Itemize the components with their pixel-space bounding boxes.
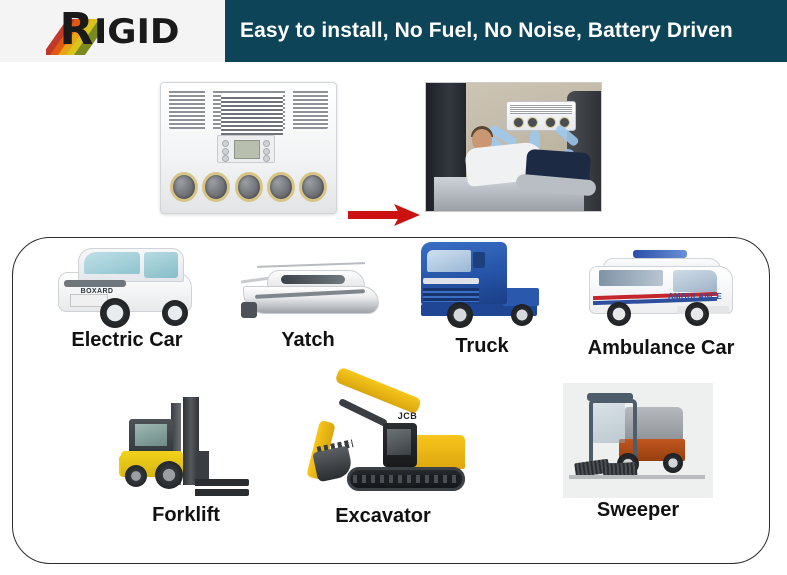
ac-center-grille [221,95,283,135]
header-banner: Easy to install, No Fuel, No Noise, Batt… [225,0,787,62]
truck-image [407,236,557,336]
ambulance-text: AMBULANCE [667,292,723,302]
application-label: Ambulance Car [561,336,761,360]
ambulance-image: AMBULANCE [581,244,741,336]
ac-vent [299,172,327,202]
application-label: Sweeper [543,498,733,522]
hero-section [0,62,787,227]
ac-vent-row [170,169,327,205]
logo-letter-r: R [60,8,92,52]
application-label: Forklift [111,503,261,527]
application-label: Truck [389,334,575,358]
application-item-truck: Truck [389,236,575,358]
sweeper-image [563,383,713,498]
cabin-ac-unit [506,101,576,131]
ac-vent [170,172,198,202]
applications-row-1: BOXARD Electric Car Yatch [13,242,769,392]
ac-louver-grille [169,89,328,129]
yacht-image [233,242,383,328]
application-label: Excavator [285,504,481,528]
red-arrow-icon [348,204,420,226]
ac-display-screen [234,140,260,159]
page-title: Easy to install, No Fuel, No Noise, Batt… [225,19,733,43]
page-header: R IGID Easy to install, No Fuel, No Nois… [0,0,787,62]
application-item-electric-car: BOXARD Electric Car [27,242,227,352]
ac-vent [235,172,263,202]
application-item-excavator: JCB Excavator [285,387,481,528]
product-ac-unit-image [160,82,337,214]
applications-panel: BOXARD Electric Car Yatch [12,237,770,564]
excavator-image: JCB [291,387,476,502]
application-item-ambulance-car: AMBULANCE Ambulance Car [561,244,761,360]
application-label: Electric Car [27,328,227,352]
excavator-brand-text: JCB [391,411,425,423]
installed-in-cabin-image [425,82,602,212]
forklift-image [111,393,261,503]
ac-vent [267,172,295,202]
applications-row-2: Forklift JCB Excavator [13,393,769,561]
ac-control-panel [217,135,275,163]
application-item-forklift: Forklift [111,393,261,527]
application-item-yatch: Yatch [213,242,403,352]
brand-logo: R IGID [0,0,225,62]
application-label: Yatch [213,328,403,352]
electric-car-image: BOXARD [52,242,202,328]
ac-vent [202,172,230,202]
logo-wordmark: IGID [94,15,180,49]
application-item-sweeper: Sweeper [543,383,733,522]
